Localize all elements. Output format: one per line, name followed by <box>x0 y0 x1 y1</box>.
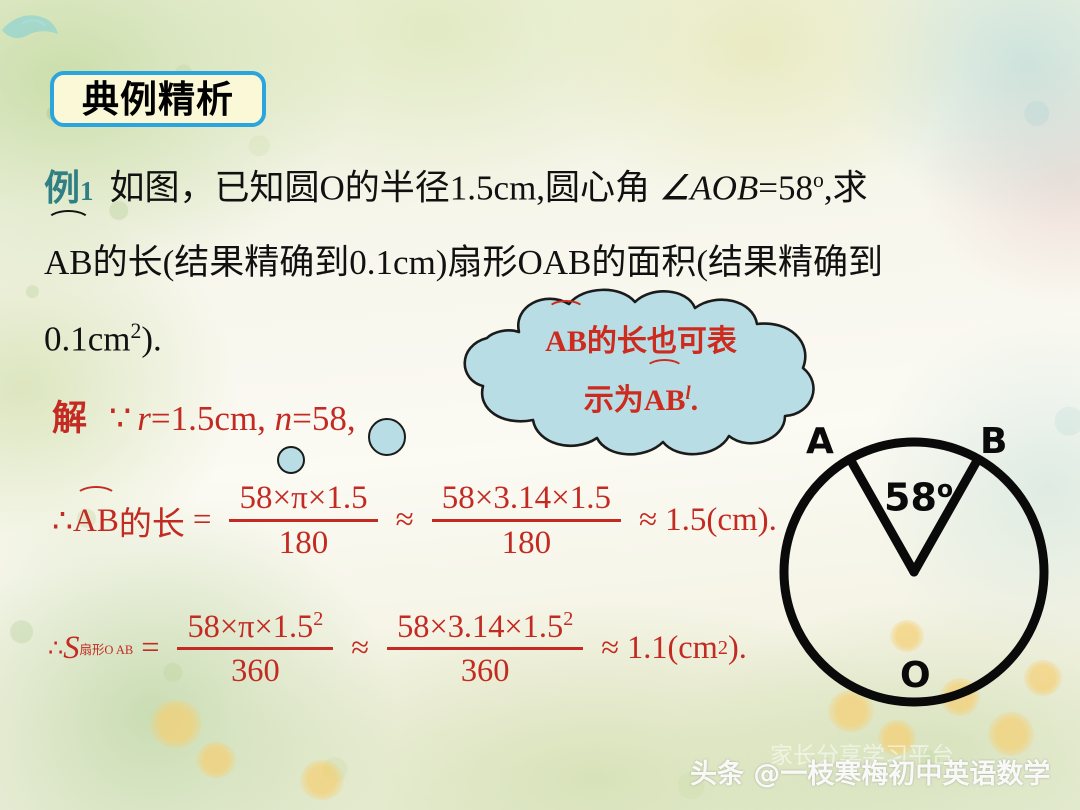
arc-length-label: 的长 <box>119 497 185 545</box>
sector-area-result-superscript: 2 <box>718 637 728 660</box>
radius-value: =1.5cm, <box>151 399 275 438</box>
cloud-line1-text: 的长也可表 <box>587 325 737 358</box>
angle-number: 58 <box>884 476 937 520</box>
fraction-numerator: 58×π×1.52 <box>177 608 333 647</box>
bird-icon <box>0 0 60 46</box>
sector-area-result-tail: ). <box>728 630 747 667</box>
cloud-line2-period: . <box>691 384 699 417</box>
example-number: 1 <box>80 176 94 206</box>
diagram-label-b: B <box>980 424 1007 460</box>
because-symbol: ∵ <box>109 399 131 438</box>
solution-arc-length-line: ∴AB的长= 58×π×1.5 180 ≈ 58×3.14×1.5 180 ≈1… <box>52 480 777 562</box>
diagram-label-a: A <box>806 424 834 460</box>
section-title-badge: 典例精析 <box>50 71 266 127</box>
fraction-numerator: 58×3.14×1.52 <box>387 608 583 647</box>
problem-line3-superscript: 2 <box>131 319 142 343</box>
fraction-numerator-superscript: 2 <box>563 608 573 630</box>
sector-area-subscript: 扇形O AB <box>79 640 133 658</box>
problem-line1-text: 如图，已知圆O的半径1.5cm,圆心角 <box>110 169 659 208</box>
equals-sign-arc: = <box>193 502 212 539</box>
fraction-denominator: 180 <box>492 522 562 562</box>
degree-sign: o <box>813 168 824 192</box>
arc-length-result: 1.5(cm). <box>665 502 777 539</box>
sector-area-result: 1.1(cm <box>627 630 718 667</box>
problem-line-2: AB的长(结果精确到0.1cm)扇形OAB的面积(结果精确到 <box>44 226 1054 297</box>
approx-sign-sector-1: ≈ <box>351 630 369 667</box>
fraction-denominator: 360 <box>221 650 290 689</box>
approx-sign-arc-2: ≈ <box>639 502 657 539</box>
therefore-symbol-arc: ∴ <box>52 501 73 541</box>
arc-ab-notation-callout-1: AB <box>545 314 587 368</box>
section-title-text: 典例精析 <box>82 81 234 118</box>
fraction-arc-exact: 58×π×1.5 180 <box>229 480 377 562</box>
sector-area-symbol: S <box>63 630 79 667</box>
arc-cap-icon <box>547 300 585 312</box>
fraction-arc-numeric: 58×3.14×1.5 180 <box>432 480 621 562</box>
problem-line2-text: 的长(结果精确到0.1cm)扇形OAB的面积(结果精确到 <box>93 243 883 282</box>
problem-line1-equals: =58 <box>758 169 813 208</box>
fraction-numerator-text: 58×π×1.5 <box>187 609 313 645</box>
fraction-numerator-superscript: 2 <box>313 608 323 630</box>
equals-sign-sector: = <box>141 630 159 667</box>
arc-ab-notation-solution: AB <box>73 501 119 540</box>
fraction-numerator-text: 58×3.14×1.5 <box>397 609 563 645</box>
arc-ab-text: AB <box>644 384 686 417</box>
approx-sign-arc-1: ≈ <box>396 502 414 539</box>
diagram-label-o: O <box>900 658 931 694</box>
diagram-angle-value: 58o <box>884 478 953 517</box>
problem-line-1: 例1如图，已知圆O的半径1.5cm,圆心角 ∠AOB=58o,求 <box>44 146 1054 226</box>
problem-line3-tail: ). <box>141 319 161 358</box>
solution-sector-area-line: ∴S扇形O AB= 58×π×1.52 360 ≈ 58×3.14×1.52 3… <box>48 608 747 689</box>
angle-aob-symbol: ∠AOB <box>659 169 758 208</box>
slide-canvas: 典例精析 例1如图，已知圆O的半径1.5cm,圆心角 ∠AOB=58o,求 AB… <box>0 0 1080 810</box>
problem-line3-text: 0.1cm <box>44 319 131 358</box>
radius-symbol: r <box>137 399 151 438</box>
solution-given-line: 解∵r=1.5cm, n=58, <box>52 390 356 441</box>
callout-tail-bubble-small <box>277 446 305 474</box>
arc-cap-icon <box>645 359 683 371</box>
n-value: =58, <box>292 399 356 438</box>
arc-ab-text: AB <box>73 503 119 539</box>
arc-ab-notation-callout-2: AB <box>644 373 686 427</box>
arc-ab-text: AB <box>44 243 93 282</box>
therefore-symbol-sector: ∴ <box>48 634 63 663</box>
callout-tail-bubble-large <box>368 418 406 456</box>
problem-line1-tail: ,求 <box>824 169 868 208</box>
solution-jie-label: 解 <box>52 399 87 439</box>
fraction-denominator: 180 <box>269 522 339 562</box>
fraction-numerator: 58×π×1.5 <box>229 480 377 519</box>
fraction-sector-numeric: 58×3.14×1.52 360 <box>387 608 583 689</box>
fraction-denominator: 360 <box>451 650 520 689</box>
fraction-sector-exact: 58×π×1.52 360 <box>177 608 333 689</box>
arc-ab-notation: AB <box>44 226 93 297</box>
cloud-callout-text: AB的长也可表 示为ABl. <box>491 314 791 427</box>
watermark-text: 头条 @一枝寒梅初中英语数学 <box>690 752 1050 791</box>
circle-diagram: A B O 58o <box>772 420 1056 710</box>
n-symbol: n <box>275 399 293 438</box>
approx-sign-sector-2: ≈ <box>601 630 619 667</box>
cloud-line-2: 示为ABl. <box>491 368 791 427</box>
arc-ab-text: AB <box>545 325 587 358</box>
cloud-line2-prefix: 示为 <box>584 384 644 417</box>
arc-cap-icon <box>75 486 117 499</box>
angle-degree-sign: o <box>937 475 953 503</box>
example-label: 例1 <box>44 168 94 208</box>
cloud-line-1: AB的长也可表 <box>491 314 791 368</box>
fraction-numerator: 58×3.14×1.5 <box>432 480 621 519</box>
